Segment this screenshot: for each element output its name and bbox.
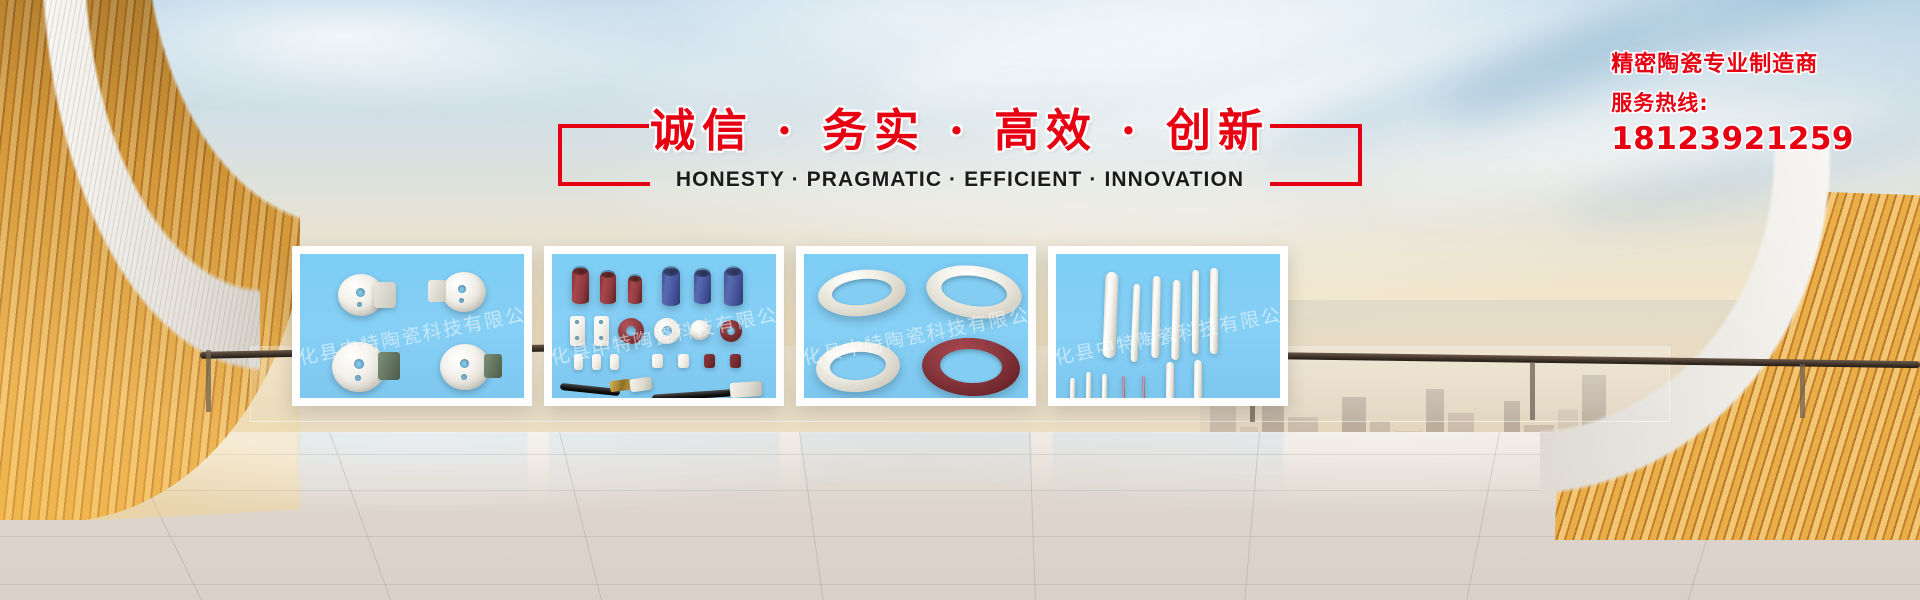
slogan-chinese: 诚信 · 务实 · 高效 · 创新 [560,100,1360,162]
sealing-ring [921,335,1022,398]
contact-block: 精密陶瓷专业制造商 服务热线: 18123921259 [1611,50,1854,158]
socket-body [374,282,396,308]
ceramic-socket [442,272,486,312]
cable-assembly [652,380,776,398]
ceramic-rod [1103,272,1119,358]
ceramic-chip [678,354,689,368]
product-card-1-image: 新化县中特陶瓷科技有限公司 [300,254,524,398]
product-card-4-image: 新化县中特陶瓷科技有限公司 [1056,254,1280,398]
product-card-3-image: 新化县中特陶瓷科技有限公司 [804,254,1028,398]
ceramic-ring [816,266,908,321]
promotional-banner: 诚信 · 务实 · 高效 · 创新 HONESTY · PRAGMATIC · … [0,0,1920,600]
ceramic-rod [1122,376,1125,398]
slogan-block: 诚信 · 务实 · 高效 · 创新 HONESTY · PRAGMATIC · … [560,100,1360,220]
ceramic-rod [1102,374,1107,398]
ceramic-tube [662,268,680,306]
card-reflection [296,432,528,524]
product-card-3[interactable]: 新化县中特陶瓷科技有限公司 [796,246,1036,406]
ceramic-rod [1070,378,1075,398]
ceramic-tube [600,272,616,304]
ceramic-rod [1086,372,1091,398]
ceramic-disc [690,320,710,340]
ceramic-chip [610,354,619,370]
ceramic-washer [618,318,644,344]
ceramic-rod [1151,276,1160,358]
product-card-2[interactable]: 新化县中特陶瓷科技有限公司 [544,246,784,406]
product-card-1[interactable]: 新化县中特陶瓷科技有限公司 [292,246,532,406]
card-reflection [548,432,780,524]
ceramic-rod [1194,360,1202,398]
product-card-2-image: 新化县中特陶瓷科技有限公司 [552,254,776,398]
socket-terminal [484,354,502,378]
socket-terminal [378,352,400,380]
white-fascia-edge [1540,140,1920,540]
ceramic-tube [724,268,743,306]
slogan-english: HONESTY · PRAGMATIC · EFFICIENT · INNOVA… [560,168,1360,192]
left-canopy-structure [0,0,300,520]
ceramic-rod [1142,376,1145,398]
hotline-number: 18123921259 [1611,120,1854,158]
ceramic-chip [704,354,715,368]
ceramic-rod [1192,270,1199,354]
ceramic-tube [694,270,711,304]
ceramic-rod [1166,362,1174,398]
socket-terminal [428,280,446,302]
ceramic-chip [592,354,601,370]
fascia-seams [0,0,260,520]
card-reflection [1052,432,1284,524]
contact-headline: 精密陶瓷专业制造商 [1611,50,1854,80]
ceramic-plate [594,316,609,346]
ceramic-socket [440,344,490,390]
ceramic-rod [1171,280,1180,360]
ceramic-tube [572,268,589,304]
product-card-4[interactable]: 新化县中特陶瓷科技有限公司 [1048,246,1288,406]
ceramic-chip [652,354,663,368]
ceramic-rod [1210,268,1218,354]
ceramic-plate [570,316,585,346]
card-reflection [800,432,1032,524]
ceramic-rod [1131,284,1141,362]
ceramic-tube [628,276,642,304]
ceramic-washer [654,318,680,344]
ceramic-ring [923,260,1025,325]
right-canopy-structure [1490,120,1920,540]
ceramic-ring [814,339,901,395]
ceramic-chip [730,354,741,368]
hotline-label: 服务热线: [1611,86,1854,120]
ceramic-chip [574,354,583,370]
ceramic-washer [720,320,742,342]
